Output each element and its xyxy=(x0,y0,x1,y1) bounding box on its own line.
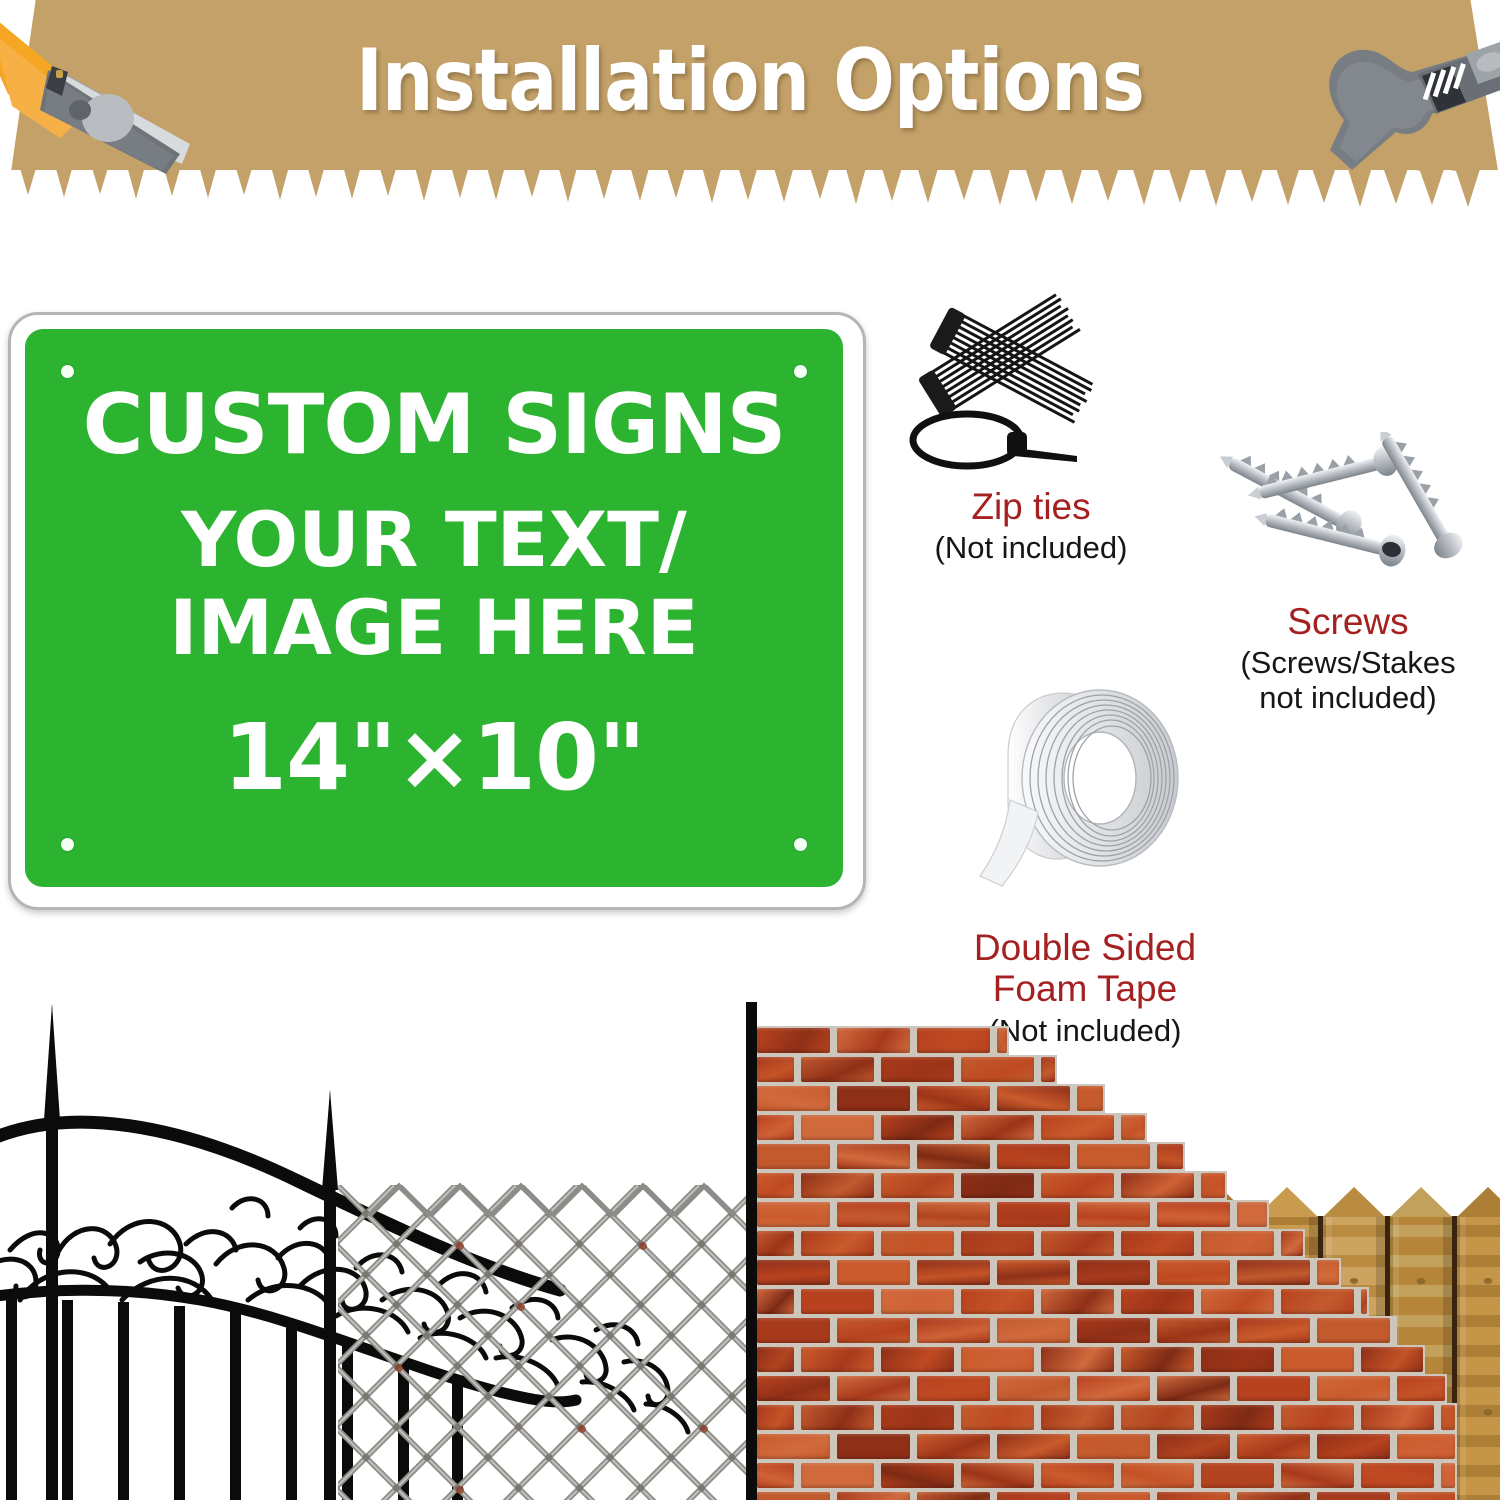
accessory-note: (Not included) xyxy=(866,531,1196,566)
brick xyxy=(917,1492,990,1500)
brick xyxy=(1201,1347,1274,1372)
mounting-hole-icon xyxy=(61,365,74,378)
brick xyxy=(837,1202,910,1227)
brick-row xyxy=(757,1055,1057,1084)
brick xyxy=(757,1231,794,1256)
brick xyxy=(1041,1231,1114,1256)
brick xyxy=(997,1376,1070,1401)
brick xyxy=(917,1086,990,1111)
brick xyxy=(1121,1347,1194,1372)
brick xyxy=(801,1115,874,1140)
brick xyxy=(961,1173,1034,1198)
brick xyxy=(1121,1405,1194,1430)
brick xyxy=(1157,1144,1183,1169)
brick xyxy=(1361,1463,1434,1488)
sign-line-3: IMAGE HERE xyxy=(25,589,843,667)
sign-plate: CUSTOM SIGNS YOUR TEXT/ IMAGE HERE 14"×1… xyxy=(8,312,866,910)
brick xyxy=(917,1434,990,1459)
mounting-hole-icon xyxy=(794,838,807,851)
panel-divider xyxy=(746,1002,757,1500)
brick xyxy=(757,1463,794,1488)
brick xyxy=(1441,1405,1455,1430)
accessory-foam-tape: Double Sided Foam Tape (Not included) xyxy=(930,680,1240,1049)
brick xyxy=(1397,1434,1455,1459)
brick xyxy=(1281,1405,1354,1430)
brick-row xyxy=(757,1374,1447,1403)
brick-wall-icon xyxy=(757,1026,1377,1500)
brick xyxy=(961,1405,1034,1430)
brick xyxy=(1237,1260,1310,1285)
brick xyxy=(1157,1202,1230,1227)
brick xyxy=(1041,1057,1055,1082)
sign-line-1: CUSTOM SIGNS xyxy=(25,383,843,468)
brick xyxy=(757,1115,794,1140)
brick xyxy=(801,1347,874,1372)
brick xyxy=(1121,1115,1145,1140)
brick-row xyxy=(757,1258,1341,1287)
brick xyxy=(1201,1289,1274,1314)
brick xyxy=(1077,1376,1150,1401)
accessory-label: Zip ties xyxy=(866,486,1196,527)
sign-face: CUSTOM SIGNS YOUR TEXT/ IMAGE HERE 14"×1… xyxy=(25,329,843,887)
brick xyxy=(1441,1463,1455,1488)
brick xyxy=(1317,1260,1339,1285)
brick xyxy=(1041,1173,1114,1198)
brick xyxy=(1157,1376,1230,1401)
brick xyxy=(881,1405,954,1430)
brick xyxy=(881,1231,954,1256)
brick-row xyxy=(757,1287,1369,1316)
brick xyxy=(881,1289,954,1314)
brick xyxy=(1317,1318,1390,1343)
brick xyxy=(1201,1405,1274,1430)
brick xyxy=(961,1347,1034,1372)
custom-sign-preview: CUSTOM SIGNS YOUR TEXT/ IMAGE HERE 14"×1… xyxy=(8,312,860,904)
accessory-label: Double Sided Foam Tape xyxy=(930,927,1240,1010)
brick xyxy=(1157,1260,1230,1285)
brick xyxy=(997,1202,1070,1227)
brick xyxy=(1237,1492,1310,1500)
sign-dimensions: 14"×10" xyxy=(25,711,843,805)
brick xyxy=(1041,1289,1114,1314)
brick xyxy=(1157,1492,1230,1500)
brick xyxy=(1281,1347,1354,1372)
sign-line-2: YOUR TEXT/ xyxy=(25,501,843,579)
brick-row xyxy=(757,1113,1147,1142)
brick xyxy=(837,1492,910,1500)
brick xyxy=(997,1028,1007,1053)
brick xyxy=(1317,1434,1390,1459)
brick xyxy=(757,1028,830,1053)
brick xyxy=(757,1434,830,1459)
accessory-screws: Screws (Screws/Stakes not included) xyxy=(1196,432,1500,716)
chain-link-fence-icon xyxy=(338,1185,746,1500)
brick xyxy=(961,1463,1034,1488)
brick xyxy=(801,1463,874,1488)
brick xyxy=(1077,1318,1150,1343)
brick xyxy=(757,1202,830,1227)
brick-row xyxy=(757,1490,1457,1500)
brick xyxy=(881,1347,954,1372)
brick xyxy=(961,1289,1034,1314)
brick xyxy=(997,1318,1070,1343)
zip-ties-icon xyxy=(871,262,1191,477)
brick xyxy=(757,1318,830,1343)
brick xyxy=(1121,1173,1194,1198)
brick xyxy=(881,1115,954,1140)
brick xyxy=(1361,1347,1423,1372)
screws-icon xyxy=(1203,432,1493,592)
brick xyxy=(837,1434,910,1459)
brick-row xyxy=(757,1171,1227,1200)
brick xyxy=(1157,1318,1230,1343)
surface-panel-left xyxy=(0,1000,746,1500)
brick xyxy=(1041,1463,1114,1488)
brick xyxy=(1317,1376,1390,1401)
accessory-note: (Screws/Stakes not included) xyxy=(1196,646,1500,715)
brick xyxy=(837,1086,910,1111)
brick xyxy=(837,1376,910,1401)
brick xyxy=(757,1260,830,1285)
brick xyxy=(917,1260,990,1285)
accessory-label: Screws xyxy=(1196,601,1500,642)
brick xyxy=(1281,1231,1303,1256)
brick-row xyxy=(757,1084,1105,1113)
brick-row xyxy=(757,1026,1009,1055)
brick xyxy=(837,1144,910,1169)
brick xyxy=(801,1289,874,1314)
brick xyxy=(757,1405,794,1430)
brick xyxy=(1077,1492,1150,1500)
brick xyxy=(1237,1376,1310,1401)
brick xyxy=(1077,1144,1150,1169)
brick xyxy=(961,1057,1034,1082)
brick-row xyxy=(757,1403,1457,1432)
brick xyxy=(997,1144,1070,1169)
brick xyxy=(1077,1434,1150,1459)
brick xyxy=(801,1057,874,1082)
brick xyxy=(801,1231,874,1256)
brick xyxy=(1041,1405,1114,1430)
brick xyxy=(757,1057,794,1082)
brick xyxy=(961,1115,1034,1140)
single-zip-tie xyxy=(913,414,1077,466)
brick xyxy=(757,1376,830,1401)
brick xyxy=(1397,1376,1445,1401)
brick xyxy=(997,1260,1070,1285)
brick xyxy=(1157,1434,1230,1459)
brick xyxy=(837,1318,910,1343)
brick-row xyxy=(757,1200,1269,1229)
brick xyxy=(757,1289,794,1314)
brick xyxy=(757,1173,794,1198)
brick xyxy=(881,1173,954,1198)
brick xyxy=(917,1144,990,1169)
brick xyxy=(917,1028,990,1053)
brick xyxy=(1201,1231,1274,1256)
brick xyxy=(881,1057,954,1082)
brick xyxy=(837,1028,910,1053)
brick xyxy=(997,1492,1070,1500)
brick xyxy=(1237,1202,1267,1227)
brick xyxy=(1121,1231,1194,1256)
brick xyxy=(1077,1260,1150,1285)
brick xyxy=(1397,1492,1455,1500)
brick xyxy=(917,1376,990,1401)
brick xyxy=(757,1086,830,1111)
brick xyxy=(1077,1086,1103,1111)
iron-gate-icon xyxy=(0,1000,746,1500)
brick xyxy=(917,1202,990,1227)
brick-row xyxy=(757,1432,1457,1461)
brick xyxy=(757,1144,830,1169)
brick xyxy=(1121,1463,1194,1488)
brick xyxy=(881,1463,954,1488)
brick xyxy=(1361,1405,1434,1430)
tape-roll-icon xyxy=(950,680,1220,918)
brick xyxy=(801,1405,874,1430)
mounting-hole-icon xyxy=(61,838,74,851)
brick xyxy=(1281,1463,1354,1488)
page-title: Installation Options xyxy=(120,38,1380,124)
brick xyxy=(1237,1318,1310,1343)
fence-picket xyxy=(1457,1216,1500,1500)
brick-row xyxy=(757,1316,1397,1345)
accessory-zip-ties: Zip ties (Not included) xyxy=(866,262,1196,566)
brick xyxy=(997,1086,1070,1111)
mounting-hole-icon xyxy=(794,365,807,378)
brick xyxy=(1237,1434,1310,1459)
header-banner: Installation Options xyxy=(0,0,1500,230)
brick xyxy=(1201,1173,1225,1198)
brick-row xyxy=(757,1345,1425,1374)
brick xyxy=(801,1173,874,1198)
brick xyxy=(1317,1492,1390,1500)
brick xyxy=(1121,1289,1194,1314)
brick-row xyxy=(757,1142,1185,1171)
brick xyxy=(1201,1463,1274,1488)
brick xyxy=(1077,1202,1150,1227)
brick xyxy=(757,1492,830,1500)
brick-row xyxy=(757,1461,1457,1490)
brick xyxy=(837,1260,910,1285)
brick xyxy=(1281,1289,1354,1314)
brick xyxy=(997,1434,1070,1459)
brick xyxy=(917,1318,990,1343)
brick xyxy=(1041,1115,1114,1140)
brick xyxy=(1361,1289,1367,1314)
brick-row xyxy=(757,1229,1305,1258)
brick xyxy=(757,1347,794,1372)
infographic-page: Installation Options CUSTOM SIGNS YOUR T… xyxy=(0,0,1500,1500)
brick xyxy=(961,1231,1034,1256)
surface-panel-right xyxy=(757,1000,1500,1500)
brick xyxy=(1041,1347,1114,1372)
